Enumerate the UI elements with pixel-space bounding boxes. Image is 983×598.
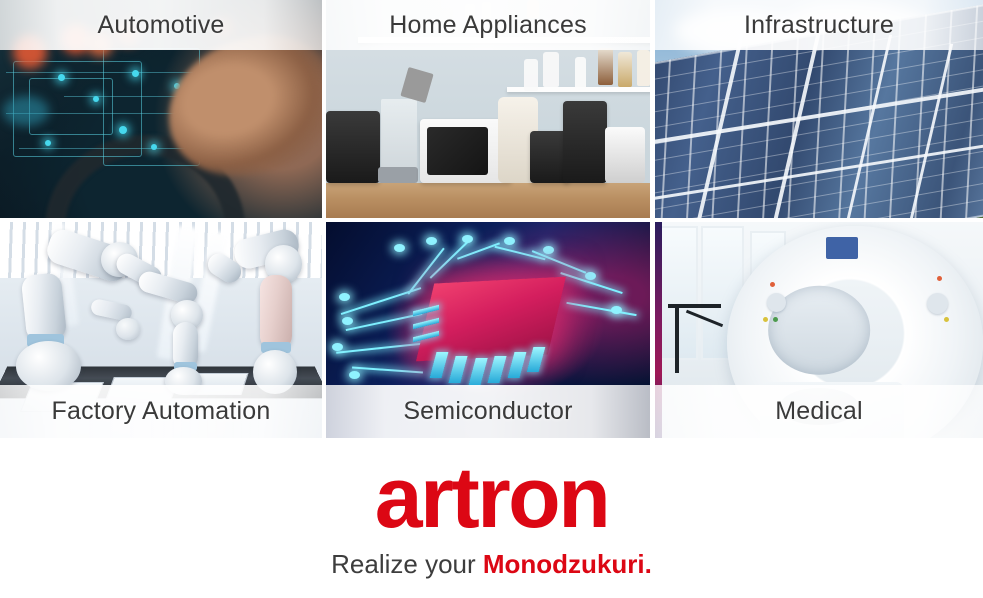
tile-medical[interactable]: Medical <box>655 222 983 438</box>
artron-logo-wordmark: artron <box>375 459 608 538</box>
tile-label-band: Home Appliances <box>326 0 650 50</box>
tile-factory-automation[interactable]: Factory Automation <box>0 222 322 438</box>
tile-label-band: Semiconductor <box>326 385 650 438</box>
tile-label-home-appliances: Home Appliances <box>389 13 587 38</box>
tile-label-band: Medical <box>655 385 983 438</box>
tile-label-semiconductor: Semiconductor <box>403 399 572 424</box>
tile-label-factory-automation: Factory Automation <box>52 399 271 424</box>
tile-label-medical: Medical <box>775 399 863 424</box>
tagline-emphasis-text: Monodzukuri. <box>483 549 652 579</box>
tile-automotive[interactable]: Automotive <box>0 0 322 218</box>
marketing-banner: Automotive <box>0 0 983 598</box>
brand-tagline: Realize your Monodzukuri. <box>331 551 652 577</box>
tile-label-band: Factory Automation <box>0 385 322 438</box>
industry-tile-grid: Automotive <box>0 0 983 438</box>
tile-label-band: Automotive <box>0 0 322 50</box>
tile-label-band: Infrastructure <box>655 0 983 50</box>
tagline-plain-text: Realize your <box>331 549 483 579</box>
tile-home-appliances[interactable]: Home Appliances <box>326 0 650 218</box>
tile-semiconductor[interactable]: Semiconductor <box>326 222 650 438</box>
tile-label-infrastructure: Infrastructure <box>744 13 894 38</box>
brand-block: artron Realize your Monodzukuri. <box>0 438 983 598</box>
tile-infrastructure[interactable]: Infrastructure <box>655 0 983 218</box>
tile-label-automotive: Automotive <box>97 13 224 38</box>
